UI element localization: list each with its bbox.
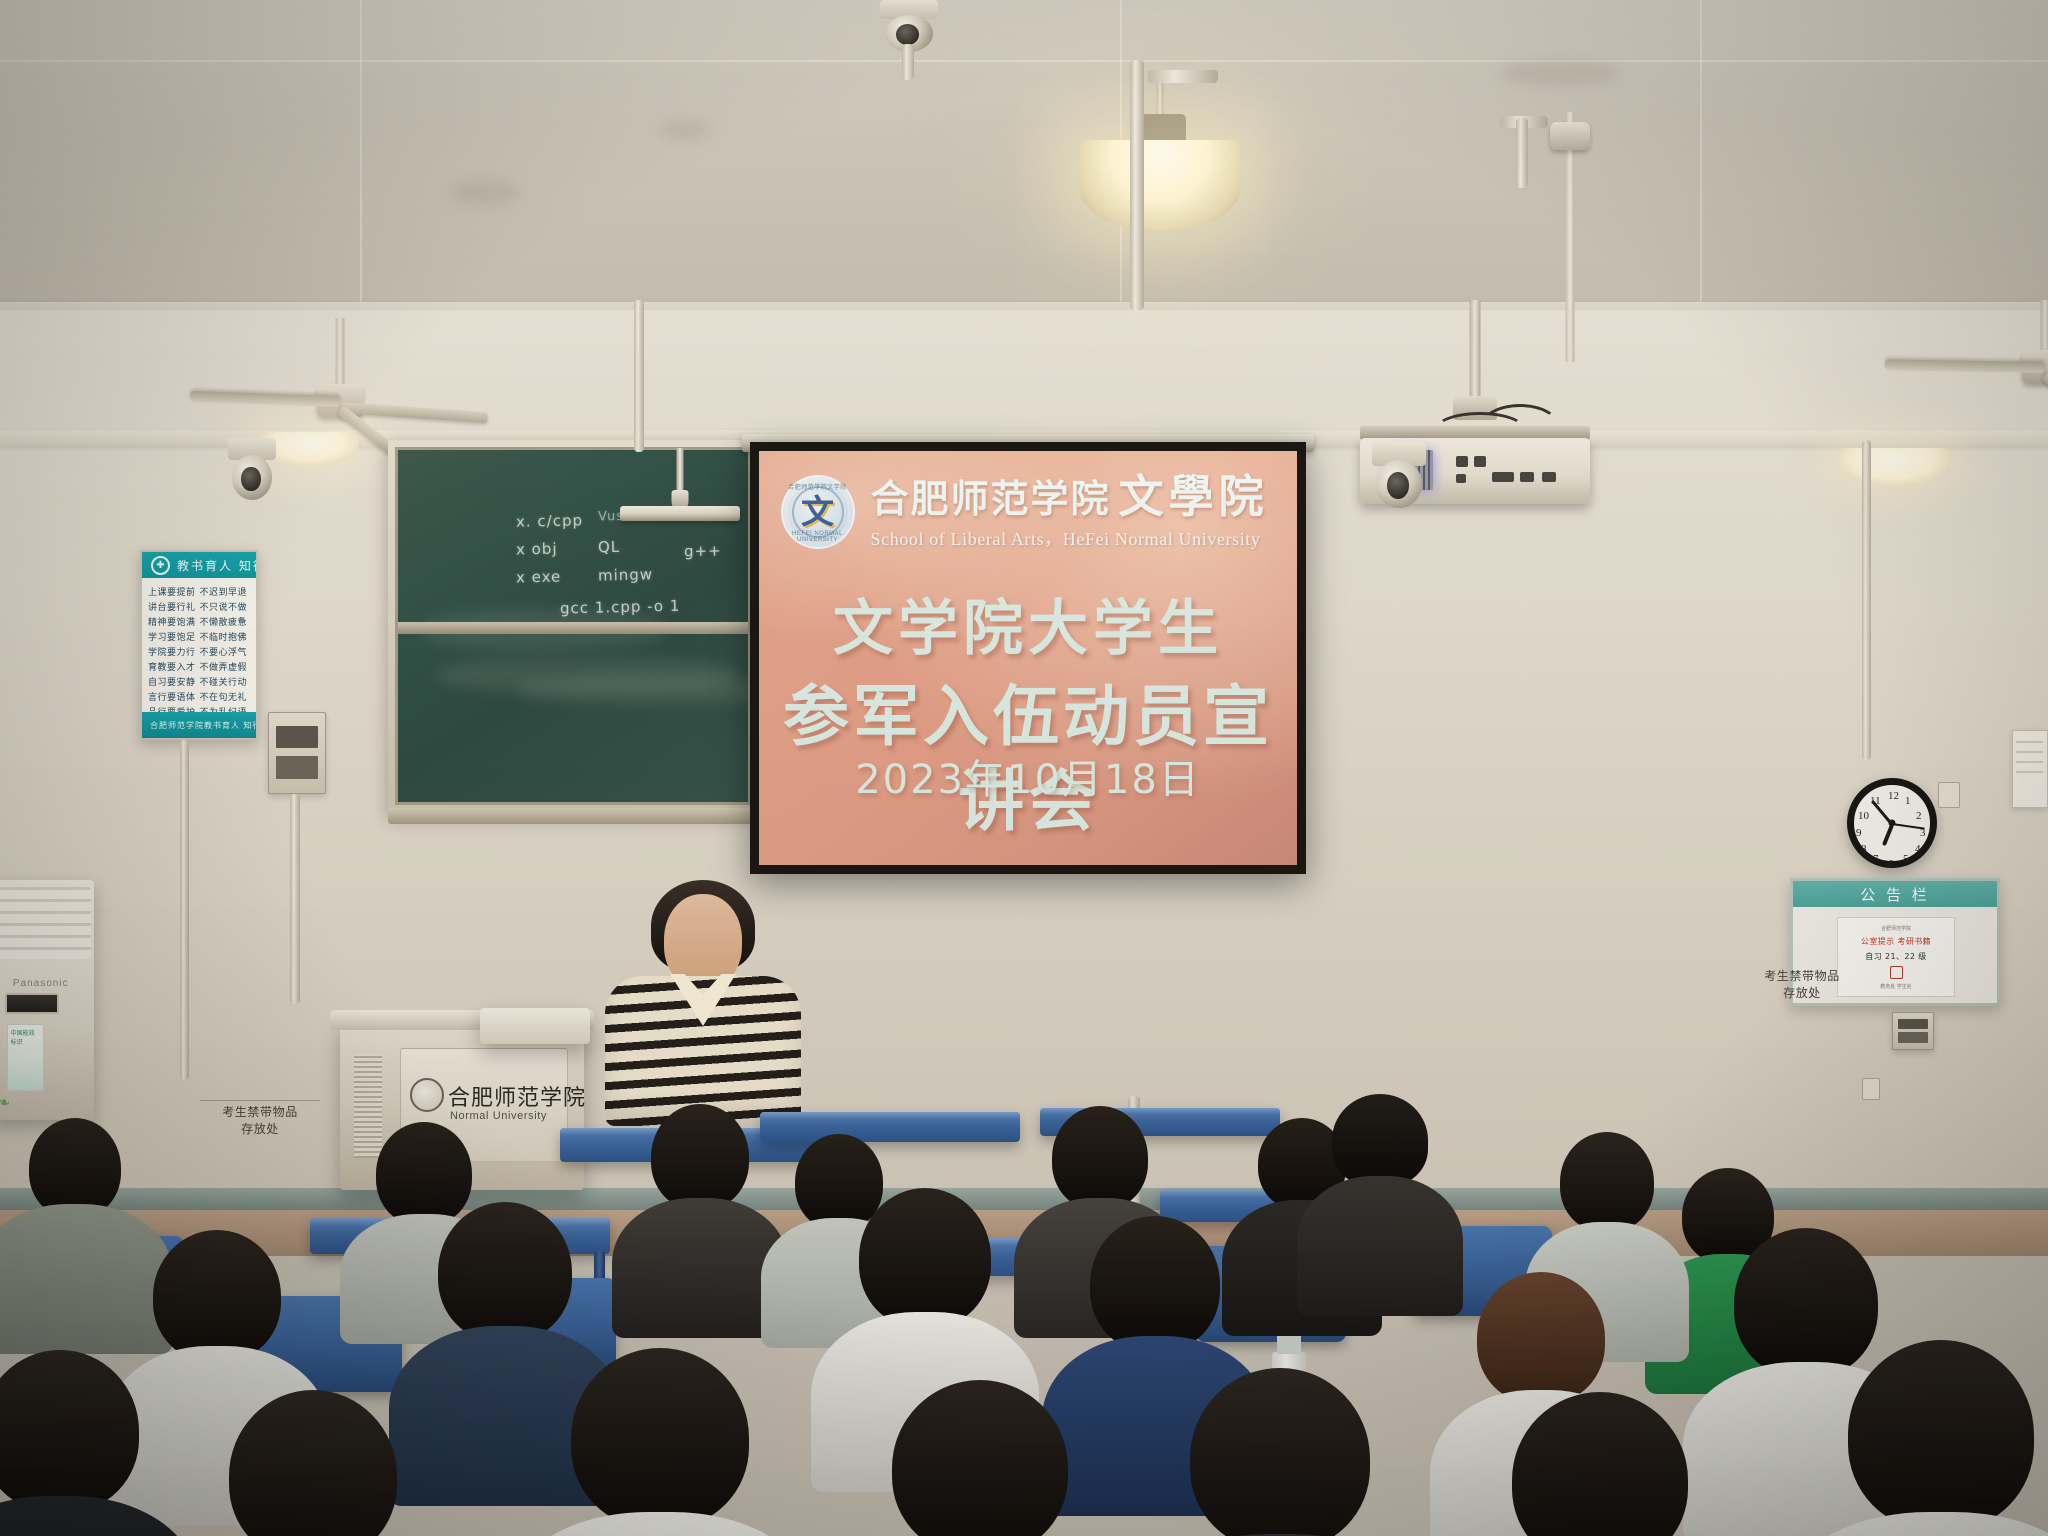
- ceiling-seam: [360, 0, 362, 330]
- chalk-line: x. c/cpp: [516, 511, 583, 531]
- poster-line: 讲台要行礼: [148, 600, 196, 613]
- ac-energy-label-title: 中国能效标识: [11, 1028, 40, 1046]
- projection-screen: 合肥师范学院文学院 文 HEFEI NORMAL UNIVERSITY 合肥师范…: [750, 442, 1306, 874]
- poster-line: 不碰关行动: [200, 675, 248, 688]
- podium-reading-surface: [480, 1008, 590, 1044]
- storage-sign-line-1: 考生禁带物品: [200, 1104, 320, 1121]
- poster-header-title: 教书育人 知行合一: [177, 557, 258, 574]
- storage-sign-line-1: 考生禁带物品: [1742, 968, 1862, 985]
- poster-line: 自习要安静: [148, 675, 196, 688]
- poster-line: 育教要入才: [148, 660, 196, 673]
- wall-clock-icon: 12 1 2 3 4 5 6 7 8 9 10 11: [1847, 778, 1937, 868]
- poster-line: 言行要语体: [148, 690, 196, 703]
- notice-red-line: 公室提示 考研书籍: [1861, 936, 1931, 947]
- slide-title: 文学院大学生 参军入伍动员宣讲会: [759, 590, 1297, 846]
- slide-org-cn-main: 合肥师范学院: [871, 477, 1111, 521]
- audience-member: [640, 1104, 760, 1274]
- poster-footer-right: 教书育人 知行合一: [204, 720, 258, 731]
- chalk-line: gcc 1.cpp -o 1: [560, 597, 681, 618]
- storage-sign-line-2: 存放处: [200, 1121, 320, 1138]
- notice-dark-line: 自习 21、22 级: [1865, 951, 1926, 962]
- crest-mark: 文: [801, 495, 834, 528]
- air-conditioner-icon: Panasonic 中国能效标识 ❧: [0, 880, 94, 1120]
- ceiling-fan-far-right: [1470, 112, 1670, 292]
- storage-sign-left: 考生禁带物品 存放处: [200, 1100, 320, 1139]
- wall-switch-box: [1892, 1012, 1934, 1050]
- chalk-line: x obj: [516, 540, 558, 559]
- crest-arc-bottom: HEFEI NORMAL UNIVERSITY: [783, 531, 853, 543]
- audience-member: [1500, 1392, 1700, 1536]
- ceiling-pipe: [1148, 70, 1218, 83]
- ceiling-pipe: [1130, 60, 1144, 310]
- wall-poster-small: [2012, 730, 2048, 808]
- notice-tiny-top: 合肥师范学院: [1881, 925, 1911, 932]
- poster-line: 不临时抱佛: [200, 630, 248, 643]
- poster-line: 精神要饱满: [148, 615, 196, 628]
- slide-org-cn-big: 文學院: [1119, 470, 1269, 523]
- chalk-line: QL: [598, 538, 621, 556]
- poster-badge-icon: ✚: [151, 556, 170, 575]
- audience-member: [218, 1390, 408, 1536]
- ceiling-seam: [0, 60, 2048, 62]
- wall-conduit: [1862, 440, 1871, 760]
- ceiling-stain: [1500, 60, 1620, 86]
- audience-member: [430, 1202, 580, 1422]
- speaker-person: [598, 880, 808, 1140]
- notice-tiny-bottom: 教务处 学生处: [1880, 983, 1912, 990]
- audience-member-cap: [1320, 1094, 1440, 1274]
- poster-line: 不懒散疲惫: [200, 615, 248, 628]
- ceiling-light-right: [1838, 448, 1950, 486]
- podium-logo-chinese: 合肥师范学院: [448, 1080, 586, 1112]
- poster-vertical-text: 教立人明行为 中要中不: [251, 585, 258, 707]
- bulletin-header: 公 告 栏: [1793, 881, 1997, 907]
- poster-header: ✚ 教书育人 知行合一: [142, 552, 256, 578]
- cleaner-rail-pipe: [634, 300, 644, 452]
- chalk-line: g++: [684, 542, 722, 561]
- university-crest-icon: 合肥师范学院文学院 文 HEFEI NORMAL UNIVERSITY: [781, 475, 855, 549]
- ceiling-fan-left: [180, 318, 500, 448]
- slide-title-line-1: 文学院大学生: [759, 590, 1297, 668]
- poster-line: 不要心浮气: [200, 645, 248, 658]
- dome-camera-icon: [1372, 442, 1426, 508]
- classroom-rules-poster: ✚ 教书育人 知行合一 上课要提前 讲台要行礼 精神要饱满 学习要饱足 学院要力…: [140, 550, 258, 740]
- ceiling-stain: [660, 120, 710, 140]
- dome-camera-icon: [228, 438, 276, 500]
- wall-conduit: [290, 794, 300, 1004]
- audience-member: [1836, 1340, 2046, 1536]
- wall-outlet: [1862, 1078, 1880, 1100]
- slide-org-english: School of Liberal Arts，HeFei Normal Univ…: [871, 525, 1269, 551]
- crest-arc-top: 合肥师范学院文学院: [783, 482, 853, 491]
- audience-member: [0, 1350, 150, 1536]
- ceiling-stain: [450, 180, 520, 206]
- ac-energy-label: 中国能效标识: [7, 1024, 44, 1091]
- lecture-hall-scene: x. c/cpp x obj x exe Vusual Studio gcc Q…: [0, 0, 2048, 1536]
- storage-sign-right: 考生禁带物品 存放处: [1742, 968, 1862, 1003]
- wall-control-box: [268, 712, 326, 794]
- ceiling: [0, 0, 2048, 330]
- camera-mount-pipe: [902, 44, 914, 80]
- board-cleaner: [620, 448, 740, 528]
- poster-line: 不在句无礼: [200, 690, 248, 703]
- poster-line: 不迟到早退: [200, 585, 248, 598]
- ceiling-pipe: [1516, 118, 1528, 188]
- poster-line: 学习要饱足: [148, 630, 196, 643]
- wall-conduit: [180, 740, 189, 1080]
- slide-date: 2023年10月18日: [759, 747, 1297, 805]
- chalk-line: x exe: [516, 567, 562, 586]
- poster-line: 不做弄虚假: [200, 660, 248, 673]
- chalk-line: mingw: [598, 565, 653, 584]
- slide-org-chinese: 合肥师范学院文學院: [871, 473, 1269, 522]
- poster-line: 上课要提前: [148, 585, 196, 598]
- storage-sign-line-2: 存放处: [1742, 985, 1862, 1002]
- podium-logo-english: Normal University: [450, 1110, 547, 1122]
- ceiling-seam: [1700, 0, 1702, 330]
- slide-header: 合肥师范学院文学院 文 HEFEI NORMAL UNIVERSITY 合肥师范…: [781, 473, 1269, 551]
- audience-member: [850, 1188, 1000, 1408]
- poster-line: 不只说不做: [200, 600, 248, 613]
- poster-body: 上课要提前 讲台要行礼 精神要饱满 学习要饱足 学院要力行 育教要入才 自习要安…: [142, 578, 256, 714]
- poster-footer: 合肥师范学院 教书育人 知行合一: [142, 712, 256, 738]
- ac-leaf-icon: ❧: [0, 1093, 10, 1113]
- poster-line: 学院要力行: [148, 645, 196, 658]
- wall-outlet: [1938, 782, 1960, 808]
- audience-member: [0, 1118, 150, 1308]
- notice-stamp-icon: [1890, 966, 1903, 979]
- presentation-slide: 合肥师范学院文学院 文 HEFEI NORMAL UNIVERSITY 合肥师范…: [759, 451, 1297, 865]
- audience-member: [880, 1380, 1080, 1536]
- pendant-light-center: [1060, 80, 1260, 270]
- audience-member: [1180, 1368, 1380, 1536]
- poster-footer-left: 合肥师范学院: [150, 720, 204, 731]
- ceiling-fan-right: [1880, 300, 2048, 430]
- audience-member: [560, 1348, 760, 1536]
- bulletin-header-title: 公 告 栏: [1860, 884, 1930, 905]
- ac-brand-label: Panasonic: [13, 978, 69, 989]
